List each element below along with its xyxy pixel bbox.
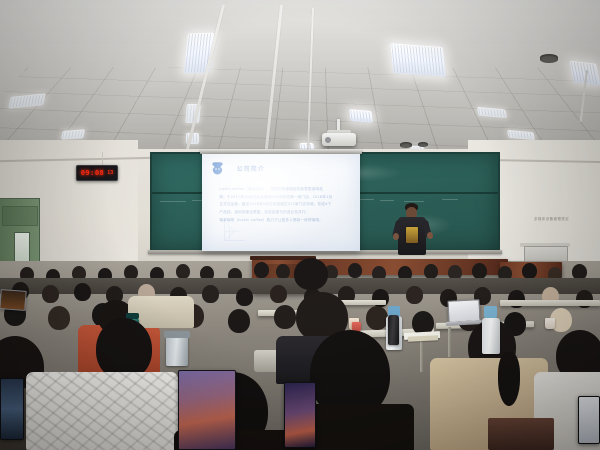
audience-head — [270, 285, 287, 303]
chalk-mark — [380, 200, 394, 201]
student-desk — [500, 300, 600, 306]
phone-device[interactable] — [284, 382, 316, 448]
led-wall-clock: 09:08 13 — [76, 165, 118, 181]
audience-torso-patterned-shirt — [26, 372, 178, 450]
chalk-mark — [160, 201, 186, 202]
slide-paragraph: 牌，于2017年10月在北京银河SOHO开设第一家门店，2018年1月 — [219, 194, 347, 201]
phone-device[interactable] — [0, 378, 24, 440]
wall-sign: 多媒体设备管理规定 — [534, 217, 569, 222]
audience-head — [472, 263, 487, 279]
ceiling-light-panel — [349, 109, 373, 123]
audience-head — [236, 288, 253, 306]
ceiling-light-panel — [61, 129, 85, 140]
thermos-black[interactable] — [388, 315, 399, 345]
ponytail — [498, 352, 520, 406]
chalk-mark — [404, 201, 424, 202]
ceiling-vent — [400, 142, 412, 148]
audience-head — [48, 306, 70, 330]
ceiling-light-panel — [390, 43, 446, 77]
audience-head — [276, 264, 290, 279]
audience-head — [424, 264, 438, 279]
projector-lens — [325, 137, 331, 143]
audience-head — [176, 264, 190, 279]
thermos-lid[interactable] — [164, 331, 190, 338]
door-panel — [2, 206, 38, 226]
desk-leg — [448, 327, 451, 357]
audience-head — [42, 285, 59, 303]
audience-head — [522, 263, 537, 279]
luckin-deer-logo — [211, 161, 224, 176]
presenter-shirt-graphic — [406, 227, 418, 243]
water-bottle-white[interactable] — [482, 318, 500, 354]
audience-head-foreground — [294, 258, 328, 290]
audience-head — [74, 283, 91, 301]
laptop-screen[interactable] — [447, 299, 480, 323]
door-window — [14, 232, 30, 262]
tablet-screen-image — [179, 371, 235, 449]
projection-screen: 公司简介 luckin coffee（瑞幸咖啡），是国内快速崛起的新零售咖啡品 … — [202, 154, 360, 251]
bottle-cap[interactable] — [484, 306, 497, 318]
laptop-screen[interactable] — [0, 289, 27, 311]
slide-watermark-diagram — [213, 219, 254, 244]
phone-screen-image — [285, 383, 315, 447]
ceiling-vent — [418, 142, 428, 147]
projection-screen-assembly: 公司简介 luckin coffee（瑞幸咖啡），是国内快速崛起的新零售咖啡品 … — [202, 154, 360, 251]
ceiling-vent — [540, 54, 558, 63]
slide-title: 公司简介 — [237, 164, 265, 173]
audience-head-foreground — [96, 318, 152, 380]
audience-head — [254, 262, 269, 278]
phone-device[interactable] — [578, 396, 600, 444]
backpack — [488, 418, 554, 450]
paper-cup[interactable] — [545, 318, 555, 329]
clock-time: 09:08 — [81, 170, 105, 177]
slide-paragraph: 正式试运营，截至2018年5月已完成超过525家门店布局，形成4个 — [219, 201, 347, 208]
presenter-hand-left — [393, 233, 399, 240]
audience-head — [406, 286, 423, 304]
audience-head — [366, 306, 388, 330]
audience-head — [202, 285, 219, 303]
thermos-cup[interactable] — [166, 336, 188, 366]
slide-paragraph: 产品线，适用场景全覆盖，实现自提与外送业务并行。 — [219, 209, 347, 216]
classroom-photo-scene: 09:08 13 多媒体设备管理规定 — [0, 0, 600, 450]
desk-leg — [420, 336, 423, 372]
presenter-hand-right — [427, 232, 433, 239]
clock-seconds: 13 — [107, 171, 113, 176]
audience-head — [274, 305, 296, 329]
slide-paragraph: luckin coffee（瑞幸咖啡），是国内快速崛起的新零售咖啡品 — [219, 186, 347, 193]
audience-head — [228, 309, 250, 333]
tablet-device[interactable] — [178, 370, 236, 450]
phone-screen-image — [579, 397, 599, 443]
phone-screen-image — [1, 379, 23, 439]
chalk-mark — [442, 199, 458, 200]
clock-mount — [102, 152, 103, 166]
audience-head — [348, 263, 362, 278]
